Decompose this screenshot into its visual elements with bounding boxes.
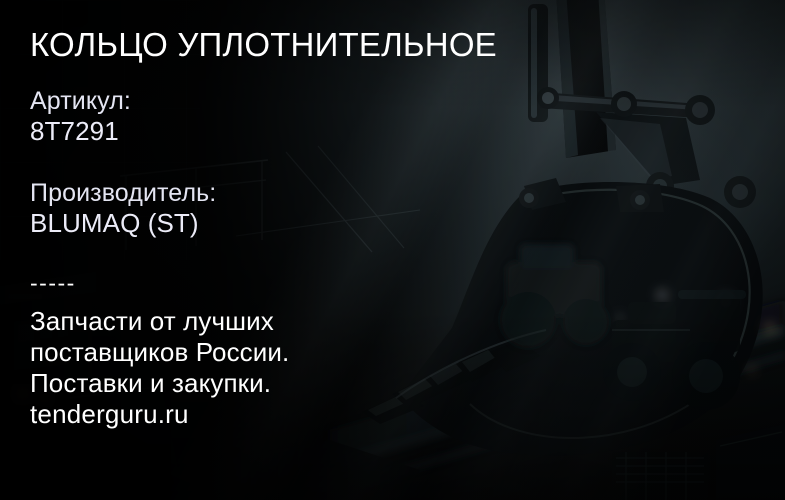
footer-line-3: Поставки и закупки.: [30, 368, 500, 399]
field-manufacturer-label: Производитель:: [30, 178, 216, 208]
footer-line-2: поставщиков России.: [30, 337, 500, 368]
product-card: КОЛЬЦО УПЛОТНИТЕЛЬНОЕ Артикул: 8T7291 Пр…: [0, 0, 785, 500]
footer-divider: -----: [30, 272, 500, 294]
footer-line-1: Запчасти от лучших: [30, 306, 500, 337]
field-article-value: 8T7291: [30, 116, 131, 147]
field-manufacturer: Производитель: BLUMAQ (ST): [30, 178, 216, 239]
field-manufacturer-value: BLUMAQ (ST): [30, 208, 216, 239]
product-title: КОЛЬЦО УПЛОТНИТЕЛЬНОЕ: [30, 26, 497, 64]
card-content: КОЛЬЦО УПЛОТНИТЕЛЬНОЕ Артикул: 8T7291 Пр…: [30, 0, 550, 500]
field-article-label: Артикул:: [30, 86, 131, 116]
excavator-arm-silhouette: [528, 0, 756, 208]
footer-block: ----- Запчасти от лучших поставщиков Рос…: [30, 272, 500, 430]
field-article: Артикул: 8T7291: [30, 86, 131, 147]
footer-site-url: tenderguru.ru: [30, 399, 500, 430]
